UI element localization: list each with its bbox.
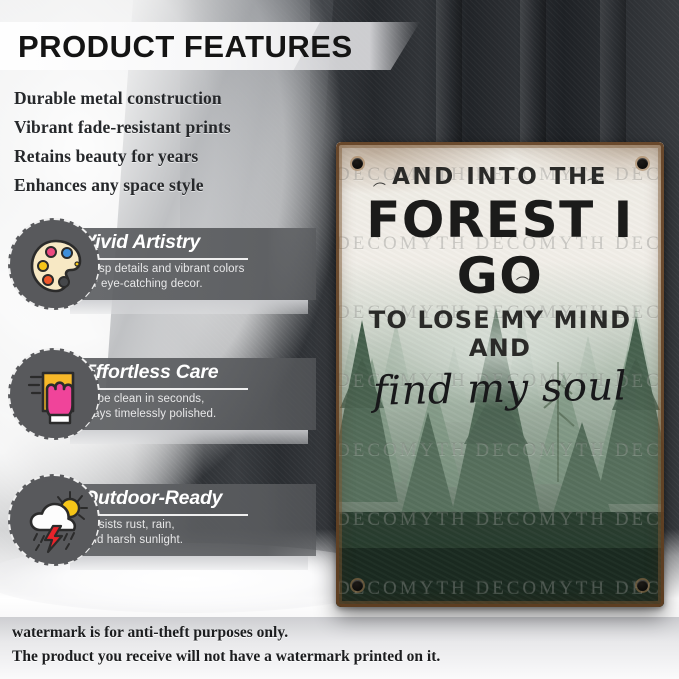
cleaning-glove-icon xyxy=(21,361,91,431)
mounting-hole-bottom-right xyxy=(637,580,648,591)
feature-bullet-list: Durable metal construction Vibrant fade-… xyxy=(14,84,334,200)
card-title: Effortless Care xyxy=(83,361,218,384)
paint-palette-icon xyxy=(21,231,91,301)
card-desc-line: Crisp details and vibrant colors xyxy=(84,262,306,277)
watermark-disclaimer: watermark is for anti-theft purposes onl… xyxy=(12,621,440,669)
disclaimer-line: watermark is for anti-theft purposes onl… xyxy=(12,621,440,645)
mounting-hole-bottom-left xyxy=(352,580,363,591)
card-description: Crisp details and vibrant colors for eye… xyxy=(84,262,306,291)
card-icon-badge-inner xyxy=(14,354,98,438)
bullet-item: Durable metal construction xyxy=(14,84,334,113)
card-panel-shadow xyxy=(70,300,308,314)
metal-sign-product: DECOMYTH DECOMYTH DECOMYTH DECOMYTH DECO… xyxy=(336,142,664,607)
bullet-item: Retains beauty for years xyxy=(14,142,334,171)
page-title: PRODUCT FEATURES xyxy=(18,25,353,69)
card-panel-shadow xyxy=(70,430,308,444)
card-title-rule xyxy=(84,388,248,390)
feature-card-effortless-care: Effortless Care Wipe clean in seconds, s… xyxy=(8,348,328,444)
sign-line-4-script: find my soul xyxy=(336,363,664,416)
card-desc-line: Resists rust, rain, xyxy=(84,518,306,533)
sign-line-3: TO LOSE MY MIND AND xyxy=(336,306,664,362)
card-title: Vivid Artistry xyxy=(83,231,200,254)
card-desc-line: stays timelessly polished. xyxy=(84,407,306,422)
bullet-item: Enhances any space style xyxy=(14,171,334,200)
bird-silhouette-icon: ︵ xyxy=(371,169,387,190)
mounting-hole-top-left xyxy=(352,158,363,169)
feature-card-outdoor-ready: Outdoor-Ready Resists rust, rain, and ha… xyxy=(8,474,328,570)
card-desc-line: and harsh sunlight. xyxy=(84,533,306,548)
card-icon-badge xyxy=(8,348,100,440)
sign-line-2: FOREST I GO xyxy=(336,192,664,304)
card-title: Outdoor-Ready xyxy=(83,487,222,510)
card-title-rule xyxy=(84,514,248,516)
card-desc-line: for eye-catching decor. xyxy=(84,277,306,292)
sun-cloud-storm-icon xyxy=(20,486,92,558)
feature-card-vivid-artistry: Vivid Artistry Crisp details and vibrant… xyxy=(8,218,328,314)
bullet-item: Vibrant fade-resistant prints xyxy=(14,113,334,142)
mounting-hole-top-right xyxy=(637,158,648,169)
card-description: Resists rust, rain, and harsh sunlight. xyxy=(84,518,306,547)
card-icon-badge xyxy=(8,218,100,310)
card-desc-line: Wipe clean in seconds, xyxy=(84,392,306,407)
product-feature-infographic: PRODUCT FEATURES Durable metal construct… xyxy=(0,0,679,679)
sign-text-block: AND INTO THE FOREST I GO TO LOSE MY MIND… xyxy=(336,164,664,412)
card-description: Wipe clean in seconds, stays timelessly … xyxy=(84,392,306,421)
card-panel-shadow xyxy=(70,556,308,570)
card-title-rule xyxy=(84,258,248,260)
disclaimer-line: The product you receive will not have a … xyxy=(12,645,440,669)
card-icon-badge-inner xyxy=(14,224,98,308)
card-icon-badge-inner xyxy=(14,480,98,564)
card-icon-badge xyxy=(8,474,100,566)
bird-silhouette-icon: ︵ xyxy=(516,264,529,283)
